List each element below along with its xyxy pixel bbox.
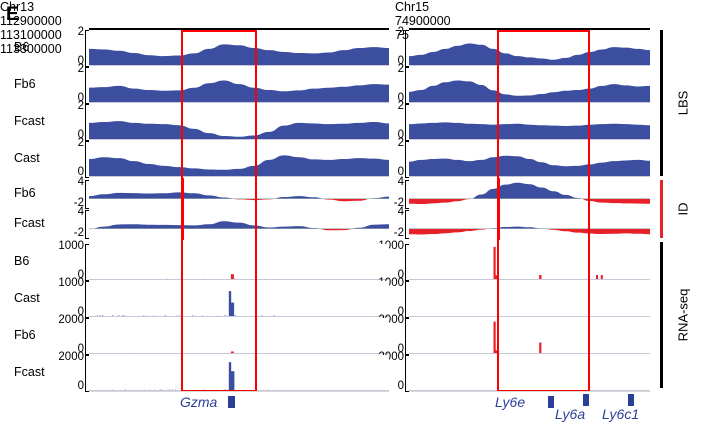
gene-row-baseline bbox=[89, 391, 389, 392]
gene-box-ly6a[interactable] bbox=[583, 394, 589, 406]
gene-label-ly6e[interactable]: Ly6e bbox=[495, 394, 525, 410]
gene-model-row: GzmaLy6eLy6aLy6c1 bbox=[0, 380, 705, 430]
group-bracket-lbs bbox=[660, 30, 663, 176]
group-label-id: ID bbox=[676, 203, 691, 216]
group-label-lbs: LBS bbox=[676, 91, 691, 116]
group-label-rna-seq: RNA-seq bbox=[676, 289, 691, 342]
group-bracket-rna-seq bbox=[660, 242, 663, 388]
gene-box-ly6c1[interactable] bbox=[628, 394, 634, 406]
gene-label-ly6c1[interactable]: Ly6c1 bbox=[602, 406, 639, 422]
gene-row-baseline-right bbox=[409, 391, 650, 392]
group-bracket-id bbox=[660, 180, 663, 238]
gene-box-ly6e[interactable] bbox=[548, 396, 554, 408]
gene-box-gzma[interactable] bbox=[228, 396, 235, 408]
gene-label-ly6a[interactable]: Ly6a bbox=[555, 406, 585, 422]
gene-label-gzma[interactable]: Gzma bbox=[180, 394, 217, 410]
group-bracket-stack: LBSIDRNA-seq bbox=[0, 0, 705, 430]
